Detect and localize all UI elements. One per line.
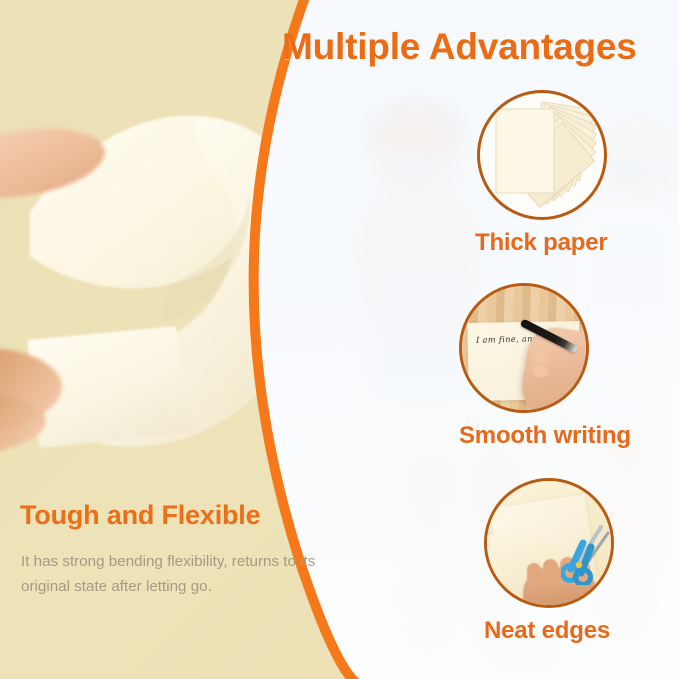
feature-neat-edges[interactable]: Neat edges: [484, 478, 614, 645]
feature-image-circle: I am fine, and: [459, 283, 589, 413]
scissors-icon: [561, 525, 614, 585]
feature-smooth-writing[interactable]: I am fine, and Smooth writing: [459, 283, 631, 450]
feature-image-circle: [477, 90, 607, 220]
page-title: Multiple Advantages: [282, 26, 674, 67]
feature-thick-paper[interactable]: Thick paper: [477, 90, 608, 257]
left-feature-description: It has strong bending flexibility, retur…: [21, 550, 351, 599]
left-feature-title: Tough and Flexible: [20, 500, 260, 531]
paper-stack-icon: [480, 93, 604, 217]
feature-image-circle: [484, 478, 614, 608]
feature-label: Neat edges: [480, 617, 614, 645]
feature-label: Thick paper: [475, 229, 608, 257]
infographic-canvas: Multiple Advantages Tough and Flexible I…: [0, 0, 679, 679]
feature-label: Smooth writing: [459, 422, 631, 450]
